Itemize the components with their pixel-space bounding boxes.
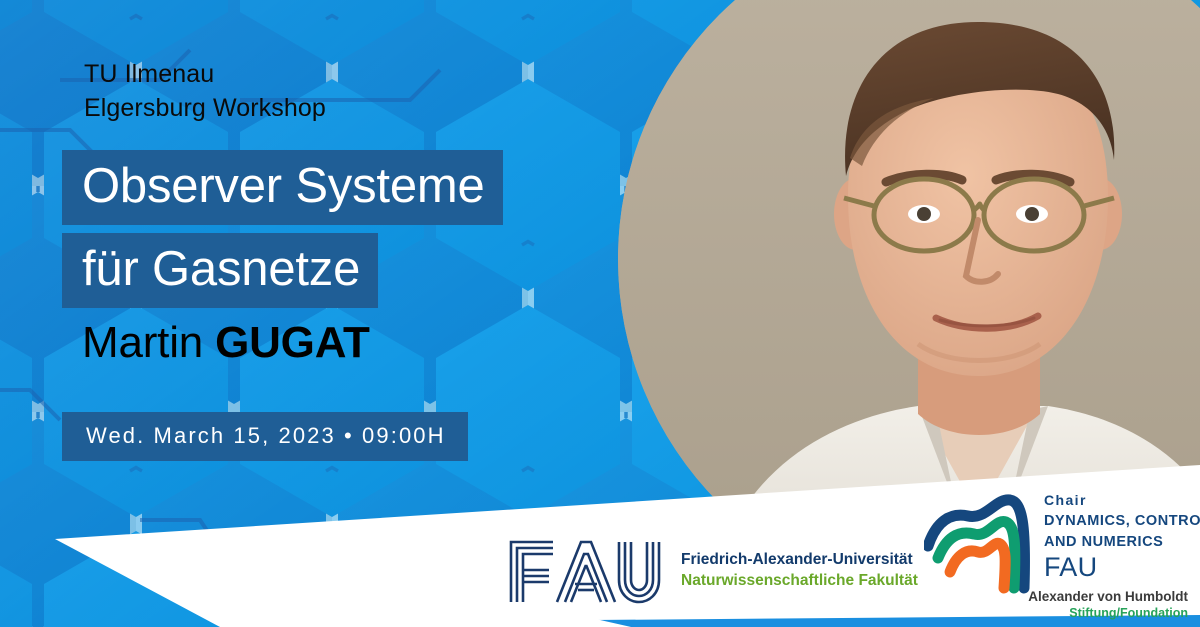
chair-line-2: AND NUMERICS xyxy=(1044,532,1200,553)
fau-logo-text: Friedrich-Alexander-Universität Naturwis… xyxy=(681,550,918,592)
humboldt-name: Alexander von Humboldt xyxy=(1024,588,1188,605)
chair-dcn-logo: Chair DYNAMICS, CONTROL AND NUMERICS FAU xyxy=(924,484,1200,594)
fau-faculty-line: Naturwissenschaftliche Fakultät xyxy=(681,571,918,592)
speaker-last-name: GUGAT xyxy=(215,318,370,367)
page-title: Observer Systeme für Gasnetze xyxy=(62,150,503,316)
humboldt-foundation-logo: Alexander von Humboldt Stiftung/Foundati… xyxy=(1024,588,1188,621)
chair-label: Chair xyxy=(1044,490,1200,511)
fau-university-line: Friedrich-Alexander-Universität xyxy=(681,550,918,571)
dcn-wave-icon xyxy=(924,484,1036,594)
fau-wordmark-icon xyxy=(505,536,665,606)
speaker-first-name: Martin xyxy=(82,318,215,367)
event-datetime-badge: Wed. March 15, 2023 • 09:00H xyxy=(62,412,468,461)
speaker-name: Martin GUGAT xyxy=(82,318,370,368)
chair-dcn-text: Chair DYNAMICS, CONTROL AND NUMERICS FAU xyxy=(1044,484,1200,582)
workshop-eyebrow: TU Ilmenau Elgersburg Workshop xyxy=(84,58,326,125)
humboldt-subtitle: Stiftung/Foundation xyxy=(1024,605,1188,621)
chair-line-1: DYNAMICS, CONTROL xyxy=(1044,511,1200,532)
title-line-2: für Gasnetze xyxy=(62,233,378,308)
event-poster: TU Ilmenau Elgersburg Workshop Observer … xyxy=(0,0,1200,627)
chair-fau-label: FAU xyxy=(1044,553,1200,582)
title-line-1: Observer Systeme xyxy=(62,150,503,225)
fau-logo: Friedrich-Alexander-Universität Naturwis… xyxy=(505,536,918,606)
